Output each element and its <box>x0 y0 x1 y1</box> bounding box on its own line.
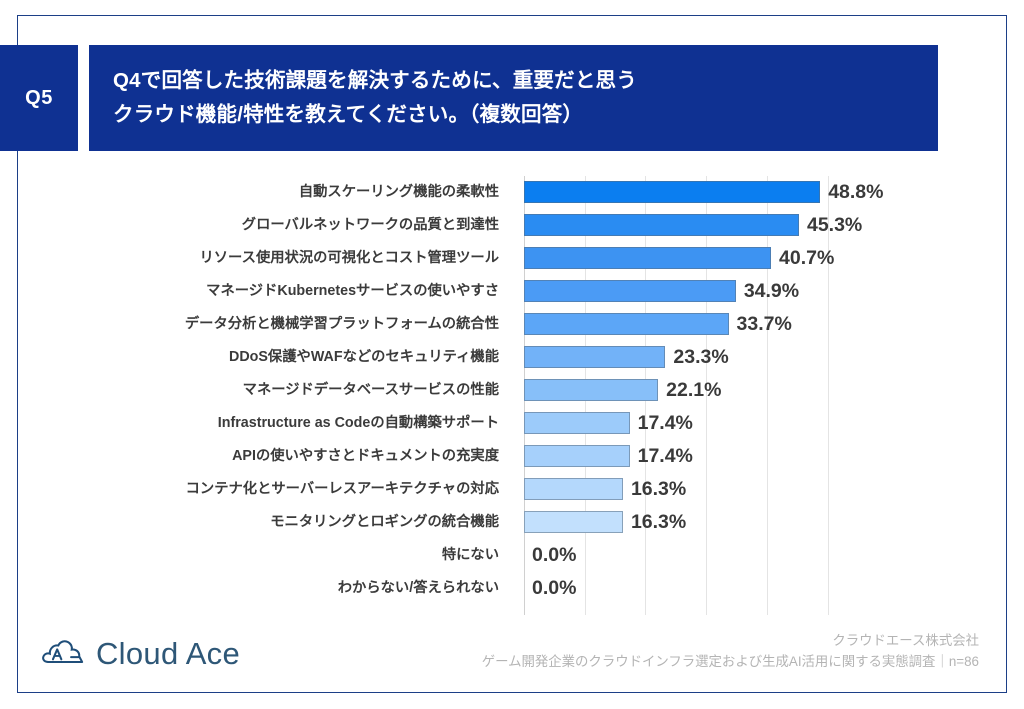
chart-row: リソース使用状況の可視化とコスト管理ツール40.7% <box>17 242 1007 275</box>
bar-value-label: 33.7% <box>737 308 792 341</box>
chart-row: 特にない0.0% <box>17 539 1007 572</box>
bar-value-label: 16.3% <box>631 473 686 506</box>
chart-row: コンテナ化とサーバーレスアーキテクチャの対応16.3% <box>17 473 1007 506</box>
category-label: APIの使いやすさとドキュメントの充実度 <box>232 440 499 473</box>
bar <box>524 214 799 236</box>
cloud-a-icon <box>41 634 87 674</box>
bar-value-label: 0.0% <box>532 572 576 605</box>
question-number-badge: Q5 <box>0 45 78 151</box>
question-number-label: Q5 <box>25 87 53 110</box>
bar-chart: 自動スケーリング機能の柔軟性48.8%グローバルネットワークの品質と到達性45.… <box>17 172 1007 622</box>
cloud-ace-wordmark: Cloud Ace <box>96 636 240 672</box>
chart-row: モニタリングとロギングの統合機能16.3% <box>17 506 1007 539</box>
footer-credit: クラウドエース株式会社 ゲーム開発企業のクラウドインフラ選定および生成AI活用に… <box>482 630 979 672</box>
footer-company: クラウドエース株式会社 <box>482 630 979 651</box>
chart-row: DDoS保護やWAFなどのセキュリティ機能23.3% <box>17 341 1007 374</box>
bar-value-label: 0.0% <box>532 539 576 572</box>
category-label: わからない/答えられない <box>338 572 499 605</box>
bar <box>524 379 658 401</box>
category-label: 特にない <box>442 539 499 572</box>
bar-value-label: 22.1% <box>666 374 721 407</box>
bar <box>524 313 729 335</box>
bar-value-label: 34.9% <box>744 275 799 308</box>
bar <box>524 511 623 533</box>
bar <box>524 478 623 500</box>
chart-row: 自動スケーリング機能の柔軟性48.8% <box>17 176 1007 209</box>
bar-value-label: 40.7% <box>779 242 834 275</box>
chart-row: Infrastructure as Codeの自動構築サポート17.4% <box>17 407 1007 440</box>
chart-row: わからない/答えられない0.0% <box>17 572 1007 605</box>
category-label: Infrastructure as Codeの自動構築サポート <box>218 407 499 440</box>
category-label: モニタリングとロギングの統合機能 <box>270 506 499 539</box>
category-label: マネージドKubernetesサービスの使いやすさ <box>206 275 499 308</box>
question-title-line-2: クラウド機能/特性を教えてください。（複数回答） <box>113 98 938 132</box>
category-label: リソース使用状況の可視化とコスト管理ツール <box>199 242 499 275</box>
category-label: マネージドデータベースサービスの性能 <box>243 374 499 407</box>
chart-row: グローバルネットワークの品質と到達性45.3% <box>17 209 1007 242</box>
bar <box>524 445 630 467</box>
slide-footer: Cloud Ace クラウドエース株式会社 ゲーム開発企業のクラウドインフラ選定… <box>17 622 1007 693</box>
chart-row: APIの使いやすさとドキュメントの充実度17.4% <box>17 440 1007 473</box>
bar <box>524 247 771 269</box>
bar-value-label: 17.4% <box>638 440 693 473</box>
bar <box>524 181 820 203</box>
chart-row: マネージドデータベースサービスの性能22.1% <box>17 374 1007 407</box>
question-title-line-1: Q4で回答した技術課題を解決するために、重要だと思う <box>113 64 938 98</box>
category-label: データ分析と機械学習プラットフォームの統合性 <box>185 308 499 341</box>
bar <box>524 412 630 434</box>
bar <box>524 346 665 368</box>
bar-value-label: 45.3% <box>807 209 862 242</box>
bar <box>524 280 736 302</box>
category-label: グローバルネットワークの品質と到達性 <box>242 209 499 242</box>
category-label: DDoS保護やWAFなどのセキュリティ機能 <box>229 341 499 374</box>
category-label: コンテナ化とサーバーレスアーキテクチャの対応 <box>186 473 499 506</box>
bar-value-label: 48.8% <box>828 176 883 209</box>
chart-row: データ分析と機械学習プラットフォームの統合性33.7% <box>17 308 1007 341</box>
chart-rows: 自動スケーリング機能の柔軟性48.8%グローバルネットワークの品質と到達性45.… <box>17 172 1007 622</box>
chart-row: マネージドKubernetesサービスの使いやすさ34.9% <box>17 275 1007 308</box>
cloud-ace-logo: Cloud Ace <box>41 634 240 674</box>
question-title-banner: Q4で回答した技術課題を解決するために、重要だと思う クラウド機能/特性を教えて… <box>89 45 938 151</box>
bar-value-label: 23.3% <box>673 341 728 374</box>
bar-value-label: 16.3% <box>631 506 686 539</box>
footer-survey: ゲーム開発企業のクラウドインフラ選定および生成AI活用に関する実態調査｜n=86 <box>482 651 979 672</box>
bar-value-label: 17.4% <box>638 407 693 440</box>
category-label: 自動スケーリング機能の柔軟性 <box>299 176 499 209</box>
slide: Q5 Q4で回答した技術課題を解決するために、重要だと思う クラウド機能/特性を… <box>0 0 1024 709</box>
